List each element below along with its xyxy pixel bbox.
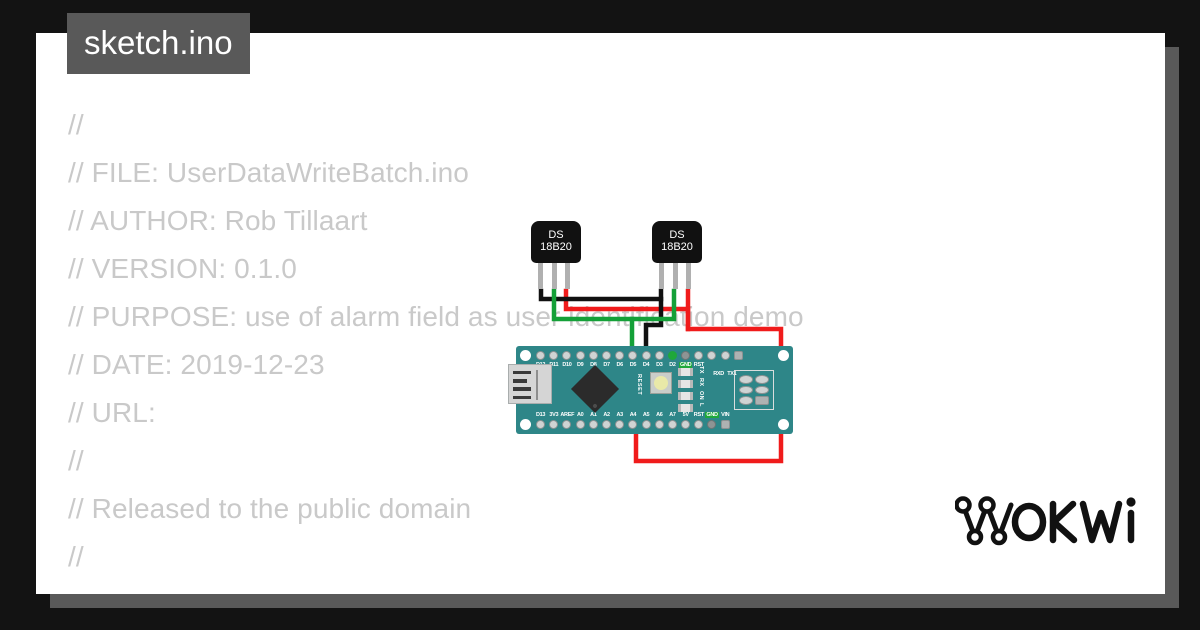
pin-a0[interactable]: [576, 420, 585, 429]
pin-label-d13: D13: [534, 412, 547, 418]
ds18b20-leg-vcc: [686, 263, 691, 289]
pin-a3[interactable]: [615, 420, 624, 429]
usb-slot: [513, 379, 527, 383]
ds18b20-label-line1: DS: [531, 229, 581, 241]
pin-a7[interactable]: [668, 420, 677, 429]
pin-tx1[interactable]: [721, 351, 730, 360]
pin-gnd-bottom[interactable]: [707, 420, 716, 429]
pin-gnd-top[interactable]: [681, 351, 690, 360]
led-on: [678, 392, 693, 400]
ds18b20-legs: [531, 263, 581, 289]
circuit-diagram: DS 18B20 DS 18B20: [476, 213, 836, 493]
pin-a6[interactable]: [655, 420, 664, 429]
pin-label-d4: D4: [640, 362, 653, 368]
ds18b20-sensor-1[interactable]: DS 18B20: [531, 221, 581, 289]
pin-a5[interactable]: [642, 420, 651, 429]
mount-hole: [778, 350, 789, 361]
pin-d2[interactable]: [668, 351, 677, 360]
mini-usb-connector[interactable]: [508, 364, 552, 404]
pin-label-a5: A5: [640, 412, 653, 418]
icsp-pin[interactable]: [755, 386, 769, 395]
bottom-pin-labels: D13 3V3 AREF A0 A1 A2 A3 A4 A5 A6 A7 5V …: [534, 412, 732, 418]
wokwi-logo-mark: [957, 499, 1012, 544]
sketch-card: // // FILE: UserDataWriteBatch.ino // AU…: [36, 33, 1165, 594]
pin-label-aref: AREF: [560, 412, 573, 418]
pin-d3[interactable]: [655, 351, 664, 360]
pin-label-5v: 5V: [679, 412, 692, 418]
pin-5v[interactable]: [681, 420, 690, 429]
ds18b20-leg-gnd: [659, 263, 664, 289]
pin-label-a4: A4: [626, 412, 639, 418]
pin-rst-top[interactable]: [694, 351, 703, 360]
reset-button-cap: [654, 376, 668, 390]
ds18b20-body: DS 18B20: [531, 221, 581, 263]
pin-d12[interactable]: [536, 351, 545, 360]
pin-label-3v3: 3V3: [547, 412, 560, 418]
pin-vin-top[interactable]: [734, 351, 743, 360]
usb-divider: [536, 370, 538, 400]
microcontroller-chip: [571, 365, 619, 413]
pin-3v3[interactable]: [549, 420, 558, 429]
pin-rst-bottom[interactable]: [694, 420, 703, 429]
pin-d10[interactable]: [562, 351, 571, 360]
icsp-pin[interactable]: [739, 375, 753, 384]
pin-label-a7: A7: [666, 412, 679, 418]
pin-label-a1: A1: [587, 412, 600, 418]
ds18b20-label-line2: 18B20: [531, 241, 581, 253]
led-label-on: ON: [698, 391, 704, 400]
icsp-pin[interactable]: [755, 396, 769, 405]
ds18b20-leg-data: [673, 263, 678, 289]
pin-d4[interactable]: [642, 351, 651, 360]
pin-label-rst-bottom: RST: [692, 412, 705, 418]
mount-hole: [778, 419, 789, 430]
ds18b20-label-line2: 18B20: [652, 241, 702, 253]
pin-label-d10: D10: [560, 362, 573, 368]
pin-label-d7: D7: [600, 362, 613, 368]
icsp-pin[interactable]: [755, 375, 769, 384]
icsp-pin[interactable]: [739, 386, 753, 395]
arduino-nano-board[interactable]: D12 D11 D10 D9 D8 D7 D6 D5 D4 D3 D2 GND …: [516, 346, 793, 434]
top-pin-row[interactable]: [536, 351, 747, 360]
led-label-l: L: [698, 403, 704, 407]
wokwi-logo[interactable]: [955, 491, 1141, 552]
ds18b20-legs: [652, 263, 702, 289]
mount-hole: [520, 419, 531, 430]
pin-label-a6: A6: [653, 412, 666, 418]
pin-label-d5: D5: [626, 362, 639, 368]
pin-a1[interactable]: [589, 420, 598, 429]
ds18b20-leg-vcc: [565, 263, 570, 289]
led-tx: [678, 368, 693, 376]
reset-label: RESET: [636, 374, 642, 395]
pin-d11[interactable]: [549, 351, 558, 360]
ds18b20-body: DS 18B20: [652, 221, 702, 263]
pin-rxd[interactable]: [707, 351, 716, 360]
pin-label-rxd: RXD: [712, 371, 725, 377]
usb-slot: [513, 396, 531, 399]
led-l: [678, 404, 693, 412]
pin-vin[interactable]: [721, 420, 730, 429]
pin-label-gnd-bottom: GND: [705, 412, 718, 418]
led-rx: [678, 380, 693, 388]
ds18b20-sensor-2[interactable]: DS 18B20: [652, 221, 702, 289]
pin-label-d3: D3: [653, 362, 666, 368]
pin-label-d6: D6: [613, 362, 626, 368]
usb-slot: [513, 387, 531, 391]
ds18b20-leg-gnd: [538, 263, 543, 289]
pin-a2[interactable]: [602, 420, 611, 429]
pin-label-d9: D9: [574, 362, 587, 368]
usb-slot: [513, 371, 531, 374]
file-name-badge: sketch.ino: [67, 13, 250, 74]
pin-label-a0: A0: [574, 412, 587, 418]
reset-button[interactable]: [650, 372, 672, 394]
pin-d6[interactable]: [615, 351, 624, 360]
mount-hole: [520, 350, 531, 361]
pin-d13[interactable]: [536, 420, 545, 429]
icsp-pin[interactable]: [739, 396, 753, 405]
led-label-rx: RX: [698, 378, 704, 386]
ds18b20-leg-data: [552, 263, 557, 289]
wokwi-logo-text: [1015, 499, 1134, 540]
pin-a4[interactable]: [628, 420, 637, 429]
pin-d5[interactable]: [628, 351, 637, 360]
pin-label-a2: A2: [600, 412, 613, 418]
code-line: //: [68, 101, 804, 149]
pin-d9[interactable]: [576, 351, 585, 360]
pin-label-vin: VIN: [719, 412, 732, 418]
ds18b20-label-line1: DS: [652, 229, 702, 241]
pin-aref[interactable]: [562, 420, 571, 429]
pin-label-a3: A3: [613, 412, 626, 418]
icsp-header[interactable]: [734, 370, 774, 410]
code-line: //: [68, 533, 804, 581]
bottom-pin-row[interactable]: [536, 420, 734, 429]
led-label-tx: TX: [698, 366, 704, 374]
pin-d8[interactable]: [589, 351, 598, 360]
pin-d7[interactable]: [602, 351, 611, 360]
code-line: // FILE: UserDataWriteBatch.ino: [68, 149, 804, 197]
